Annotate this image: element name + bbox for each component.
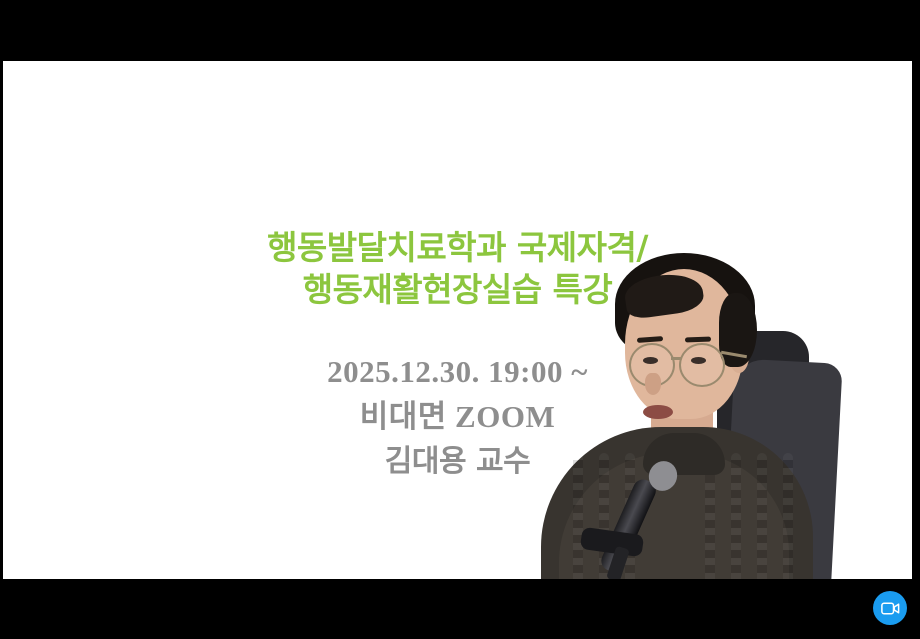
slide-detail-speaker: 김대용 교수 [3, 439, 912, 484]
meeting-toolbar [0, 580, 920, 639]
slide-detail-datetime: 2025.12.30. 19:00 ~ [3, 349, 912, 394]
slide-details: 2025.12.30. 19:00 ~ 비대면 ZOOM 김대용 교수 [3, 349, 912, 484]
slide-title: 행동발달치료학과 국제자격/ 행동재활현장실습 특강 [3, 227, 912, 311]
meeting-window: 행동발달치료학과 국제자격/ 행동재활현장실습 특강 2025.12.30. 1… [0, 0, 920, 639]
video-camera-icon [881, 602, 900, 615]
video-camera-button[interactable] [873, 591, 907, 625]
shared-screen-content[interactable]: 행동발달치료학과 국제자격/ 행동재활현장실습 특강 2025.12.30. 1… [3, 61, 912, 579]
presenter-video-tile[interactable] [533, 61, 912, 579]
slide-detail-location: 비대면 ZOOM [3, 394, 912, 439]
presenter-eyebrow [685, 337, 711, 343]
